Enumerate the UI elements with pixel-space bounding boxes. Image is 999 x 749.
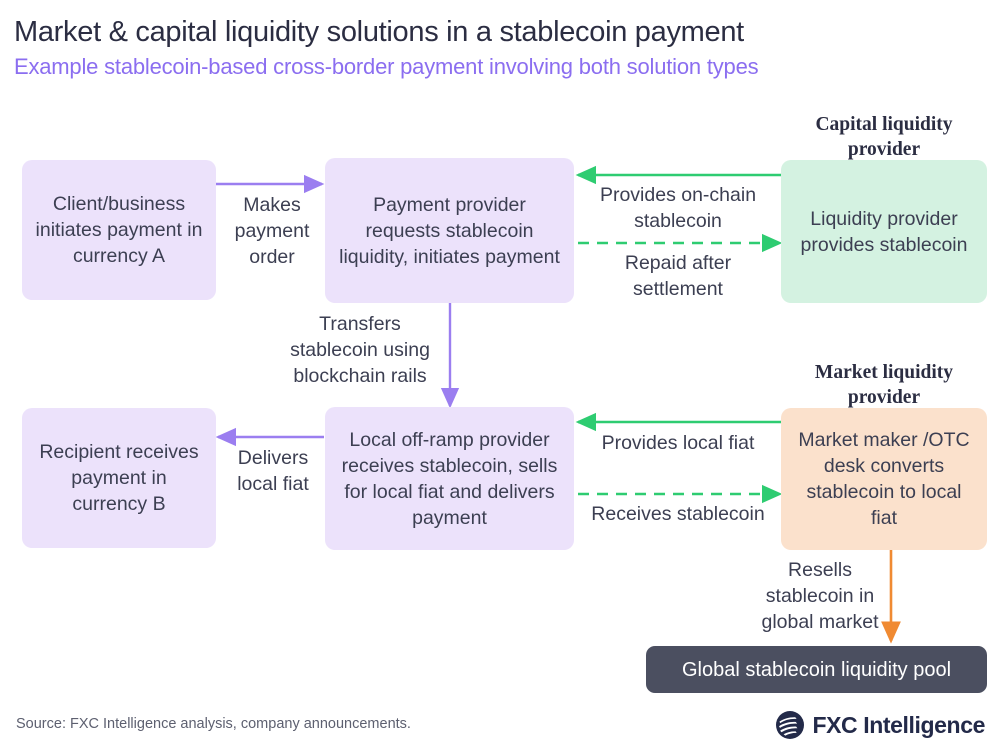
node-label: Local off-ramp provider receives stablec…: [335, 427, 564, 531]
node-payment-provider[interactable]: Payment provider requests stablecoin liq…: [325, 158, 574, 303]
edge-label-delivers-local-fiat: Delivers local fiat: [222, 445, 324, 497]
logo-text: FXC Intelligence: [812, 712, 985, 739]
edge-label-resells-stablecoin: Resells stablecoin in global market: [754, 557, 886, 635]
node-label: Payment provider requests stablecoin liq…: [335, 192, 564, 270]
node-label: Liquidity provider provides stablecoin: [791, 206, 977, 258]
node-local-offramp-provider[interactable]: Local off-ramp provider receives stablec…: [325, 407, 574, 550]
node-recipient[interactable]: Recipient receives payment in currency B: [22, 408, 216, 548]
node-liquidity-provider[interactable]: Liquidity provider provides stablecoin: [781, 160, 987, 303]
node-label: Recipient receives payment in currency B: [32, 439, 206, 517]
edge-label-provides-on-chain-stablecoin: Provides on-chain stablecoin: [578, 182, 778, 234]
edge-label-transfers-stablecoin: Transfers stablecoin using blockchain ra…: [276, 311, 444, 389]
fxc-intelligence-logo: FXC Intelligence: [775, 708, 985, 742]
node-client-business[interactable]: Client/business initiates payment in cur…: [22, 160, 216, 300]
node-label: Client/business initiates payment in cur…: [32, 191, 206, 269]
node-label: Global stablecoin liquidity pool: [682, 657, 951, 683]
node-market-maker-otc-desk[interactable]: Market maker /OTC desk converts stableco…: [781, 408, 987, 550]
edge-label-provides-local-fiat: Provides local fiat: [578, 430, 778, 456]
fxc-globe-icon: [775, 710, 805, 740]
page-title: Market & capital liquidity solutions in …: [14, 14, 744, 50]
node-label: Market maker /OTC desk converts stableco…: [791, 427, 977, 531]
edge-label-repaid-after-settlement: Repaid after settlement: [578, 250, 778, 302]
source-note: Source: FXC Intelligence analysis, compa…: [16, 716, 411, 732]
section-caption-capital-liquidity-provider: Capital liquidity provider: [782, 112, 986, 162]
diagram-canvas: Market & capital liquidity solutions in …: [0, 0, 999, 749]
edge-label-makes-payment-order: Makes payment order: [222, 192, 322, 270]
edge-label-receives-stablecoin: Receives stablecoin: [578, 501, 778, 527]
node-global-stablecoin-liquidity-pool[interactable]: Global stablecoin liquidity pool: [646, 646, 987, 693]
section-caption-market-liquidity-provider: Market liquidity provider: [782, 360, 986, 410]
page-subtitle: Example stablecoin-based cross-border pa…: [14, 52, 758, 82]
